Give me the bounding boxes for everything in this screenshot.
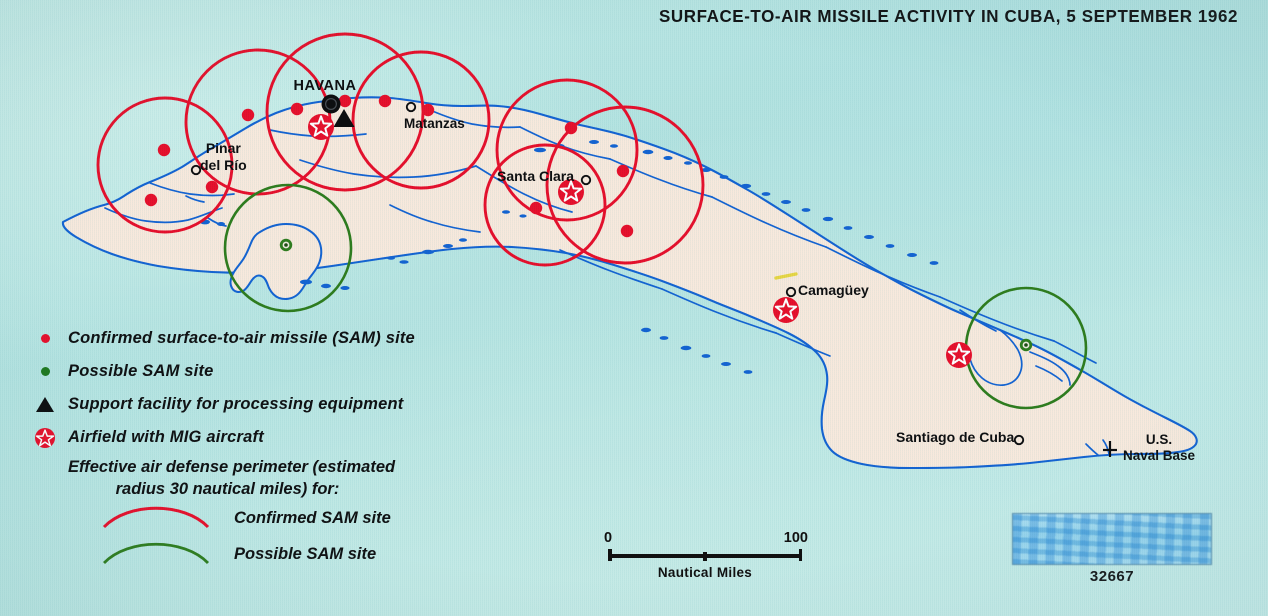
- city-label-santa-clara: Santa Clara: [497, 168, 574, 184]
- city-marker: [787, 288, 795, 296]
- green-arc-icon: [100, 537, 212, 572]
- city-label-santiago-de-cuba: Santiago de Cuba: [896, 429, 1014, 445]
- legend: Confirmed surface-to-air missile (SAM) s…: [22, 322, 415, 573]
- mig-airfield-star-icon: [22, 427, 68, 449]
- legend-item-support-facility: Support facility for processing equipmen…: [22, 388, 415, 421]
- id-box-frame: [1012, 513, 1212, 565]
- legend-label-airfield: Airfield with MIG aircraft: [68, 428, 264, 447]
- scale-rule-graphic: [600, 549, 810, 562]
- city-label-havana: HAVANA: [294, 78, 357, 94]
- city-marker: [192, 166, 200, 174]
- confirmed-sam-site-marker: [621, 225, 633, 237]
- legend-label-support-facility: Support facility for processing equipmen…: [68, 395, 404, 414]
- document-id-box: 32667: [1012, 513, 1212, 585]
- mig-airfield-marker: [946, 342, 972, 368]
- city-label-u-s-naval-base: U.S. Naval Base: [1123, 432, 1195, 464]
- capital-city-marker: [322, 95, 341, 114]
- red-dot-icon: [22, 334, 68, 343]
- city-label-matanzas: Matanzas: [404, 116, 465, 131]
- document-id-number: 32667: [1012, 568, 1212, 585]
- black-triangle-icon: [22, 397, 68, 412]
- legend-label-confirmed-arc: Confirmed SAM site: [234, 509, 391, 528]
- legend-label-confirmed-sam: Confirmed surface-to-air missile (SAM) s…: [68, 329, 415, 348]
- possible-sam-site-marker: [280, 239, 292, 251]
- green-dot-icon: [22, 367, 68, 376]
- scale-min-label: 0: [604, 530, 612, 546]
- possible-sam-site-marker: [1020, 339, 1032, 351]
- city-label-camag-ey: Camagüey: [798, 282, 869, 298]
- scale-max-label: 100: [784, 530, 808, 546]
- confirmed-sam-site-marker: [158, 144, 170, 156]
- legend-perimeter-note-line2: radius 30 nautical miles) for:: [68, 479, 415, 501]
- legend-item-possible-arc: Possible SAM site: [100, 537, 415, 573]
- red-arc-icon: [100, 501, 212, 536]
- legend-item-confirmed-sam: Confirmed surface-to-air missile (SAM) s…: [22, 322, 415, 355]
- confirmed-sam-site-marker: [339, 95, 351, 107]
- legend-item-confirmed-arc: Confirmed SAM site: [100, 501, 415, 537]
- city-label-pinar-del-r-o: Pinar del Río: [200, 140, 247, 173]
- confirmed-sam-site-marker: [530, 202, 542, 214]
- map-title: SURFACE-TO-AIR MISSILE ACTIVITY IN CUBA,…: [37, 6, 1238, 27]
- city-marker: [1015, 436, 1023, 444]
- scale-bar: 0 100 Nautical Miles: [600, 530, 810, 580]
- city-marker: [407, 103, 415, 111]
- legend-label-possible-arc: Possible SAM site: [234, 545, 376, 564]
- map-canvas: SURFACE-TO-AIR MISSILE ACTIVITY IN CUBA,…: [0, 0, 1268, 616]
- legend-perimeter-note: Effective air defense perimeter (estimat…: [68, 457, 415, 501]
- confirmed-sam-site-marker: [379, 95, 391, 107]
- confirmed-sam-site-marker: [291, 103, 303, 115]
- mig-airfield-marker: [308, 114, 334, 140]
- confirmed-sam-site-marker: [145, 194, 157, 206]
- scale-endpoints: 0 100: [600, 530, 810, 547]
- confirmed-sam-site-marker: [565, 122, 577, 134]
- confirmed-sam-site-marker: [422, 104, 434, 116]
- mig-airfield-marker: [773, 297, 799, 323]
- scale-units-label: Nautical Miles: [600, 565, 810, 580]
- legend-item-airfield: Airfield with MIG aircraft: [22, 421, 415, 454]
- confirmed-sam-site-marker: [242, 109, 254, 121]
- legend-item-possible-sam: Possible SAM site: [22, 355, 415, 388]
- confirmed-sam-site-marker: [617, 165, 629, 177]
- legend-label-possible-sam: Possible SAM site: [68, 362, 214, 381]
- city-marker: [582, 176, 590, 184]
- legend-perimeter-note-line1: Effective air defense perimeter (estimat…: [68, 458, 395, 476]
- confirmed-sam-site-marker: [206, 181, 218, 193]
